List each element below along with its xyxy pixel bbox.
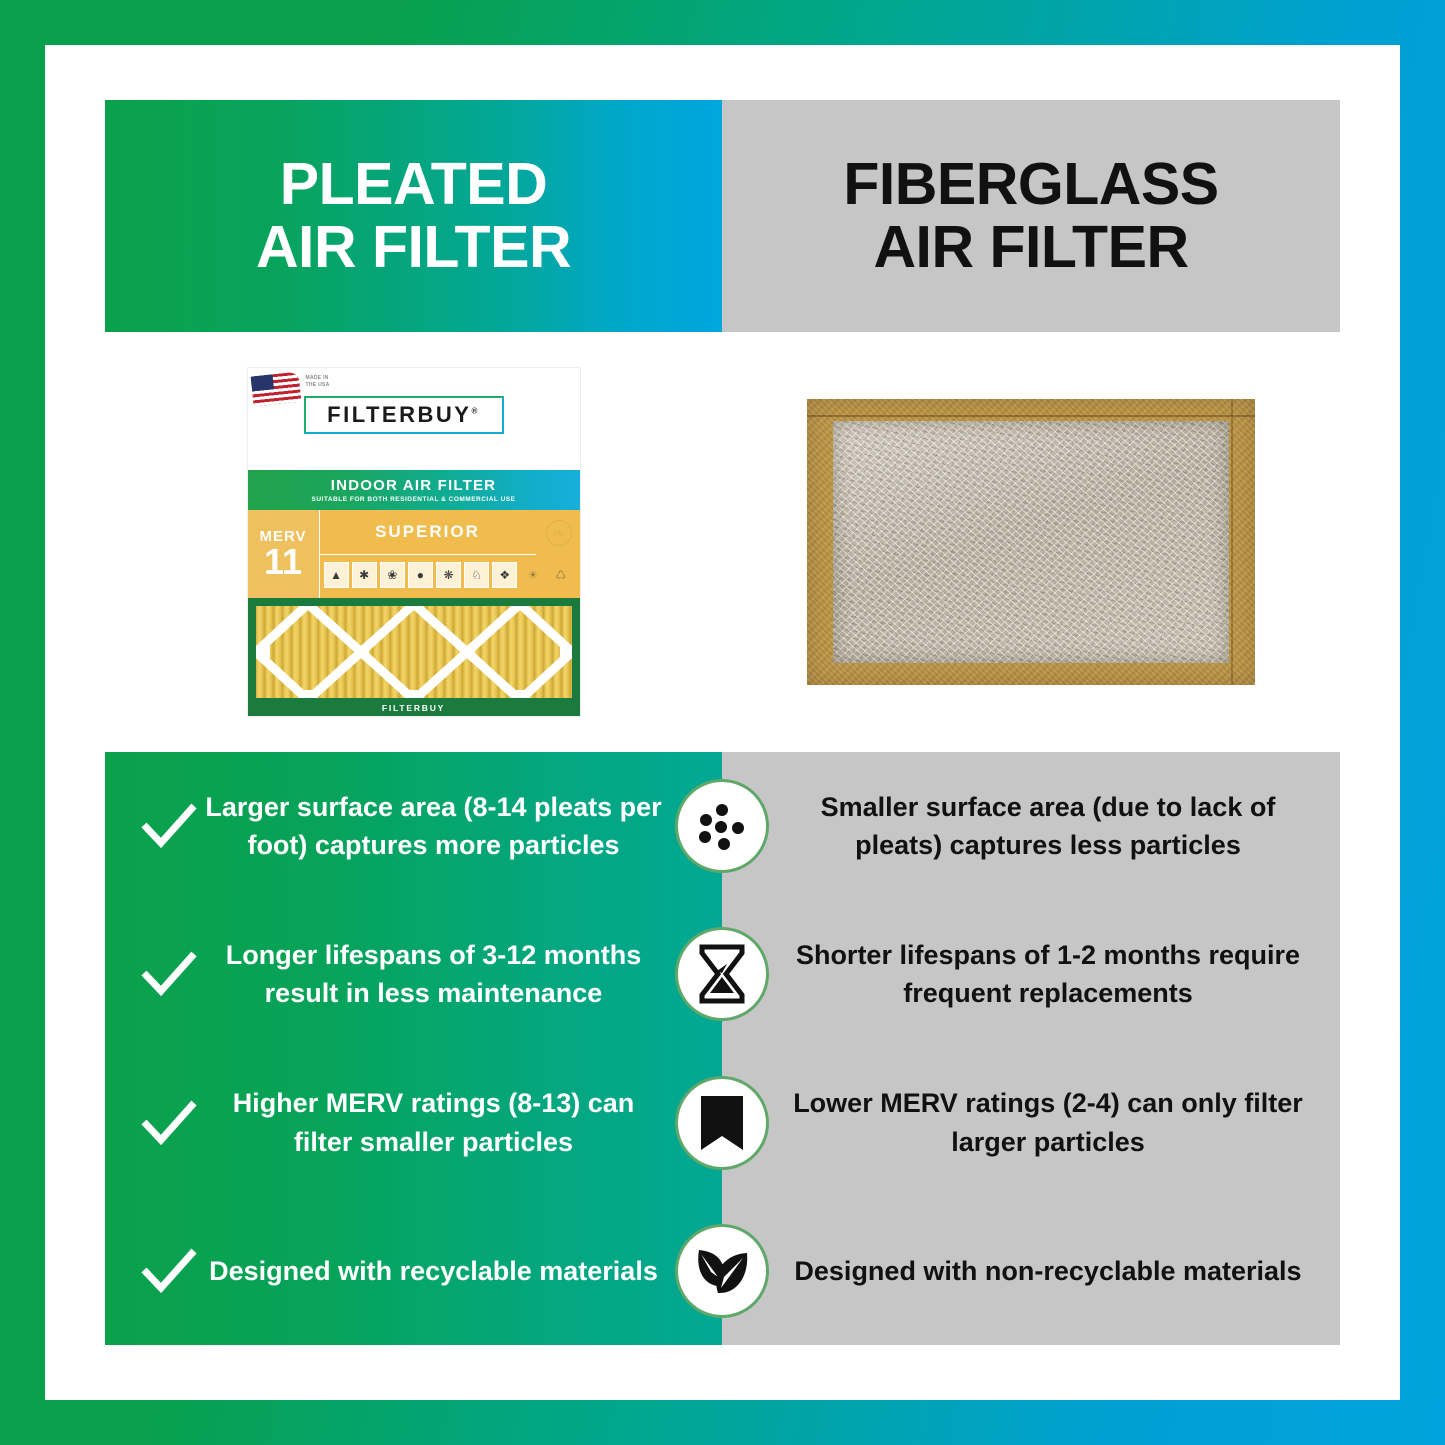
virus-icon: ♺	[548, 562, 573, 588]
frame-top-seam	[807, 415, 1255, 417]
row-2-right-cell: Shorter lifespans of 1-2 months require …	[722, 900, 1340, 1048]
header-fiberglass-line2: AIR FILTER	[843, 216, 1218, 279]
row-4-left-text: Designed with recyclable materials	[203, 1252, 664, 1290]
box-indoor-air-filter-band: INDOOR AIR FILTER SUITABLE FOR BOTH RESI…	[248, 470, 580, 510]
fiberglass-mesh	[833, 421, 1229, 663]
product-cell-pleated: MADE IN THE USA FILTERBUY® INDOOR AIR FI…	[105, 332, 722, 752]
frame-right-seam	[1231, 399, 1233, 685]
row-3-right-cell: Lower MERV ratings (2-4) can only filter…	[722, 1049, 1340, 1197]
checkmark-icon	[135, 1100, 203, 1146]
odor-icon: ☀	[520, 562, 545, 588]
header-pleated-line2: AIR FILTER	[256, 216, 571, 279]
checkmark-icon	[135, 803, 203, 849]
comparison-rows: Larger surface area (8-14 pleats per foo…	[105, 752, 1340, 1345]
pleated-media	[256, 606, 572, 698]
row-4-right-cell: Designed with non-recyclable materials	[722, 1197, 1340, 1345]
row-4-left-cell: Designed with recyclable materials	[105, 1197, 722, 1345]
header-band: PLEATED AIR FILTER FIBERGLASS AIR FILTER	[105, 100, 1340, 332]
usa-flag-icon	[250, 372, 301, 407]
row-3-left-text: Higher MERV ratings (8-13) can filter sm…	[203, 1084, 664, 1161]
bookmark-icon	[675, 1076, 769, 1170]
row-2-right-text: Shorter lifespans of 1-2 months require …	[790, 936, 1306, 1013]
infographic-page: PLEATED AIR FILTER FIBERGLASS AIR FILTER	[0, 0, 1445, 1445]
leaf-icon	[675, 1224, 769, 1318]
box-top-white-area: MADE IN THE USA FILTERBUY®	[248, 368, 580, 470]
row-1-left-cell: Larger surface area (8-14 pleats per foo…	[105, 752, 722, 900]
insect-icon: ✱	[352, 562, 377, 588]
table-row: Higher MERV ratings (8-13) can filter sm…	[105, 1049, 1340, 1197]
particles-icon	[675, 779, 769, 873]
registered-mark: ®	[471, 407, 479, 416]
pollen-icon: ❋	[436, 562, 461, 588]
row-3-right-text: Lower MERV ratings (2-4) can only filter…	[790, 1084, 1306, 1161]
product-cell-fiberglass	[722, 332, 1340, 752]
made-in-usa-text: MADE IN THE USA	[306, 375, 330, 388]
tier-label: SUPERIOR	[320, 510, 536, 555]
merv-value: 11	[264, 545, 302, 579]
white-canvas: PLEATED AIR FILTER FIBERGLASS AIR FILTER	[45, 45, 1400, 1400]
filterbuy-logo-text: FILTERBUY	[327, 402, 471, 427]
row-4-right-text: Designed with non-recyclable materials	[790, 1252, 1306, 1290]
diamond-support-grid-icon	[256, 606, 572, 698]
table-row: Designed with recyclable materials Desig…	[105, 1197, 1340, 1345]
header-fiberglass-title: FIBERGLASS AIR FILTER	[843, 153, 1218, 279]
row-2-left-cell: Longer lifespans of 3-12 months result i…	[105, 900, 722, 1048]
hourglass-icon	[675, 927, 769, 1021]
comparison-table: Larger surface area (8-14 pleats per foo…	[105, 752, 1340, 1345]
table-row: Larger surface area (8-14 pleats per foo…	[105, 752, 1340, 900]
filterbuy-logo: FILTERBUY®	[304, 396, 504, 434]
row-1-left-text: Larger surface area (8-14 pleats per foo…	[203, 788, 664, 865]
ul-certification-icon: UL	[546, 520, 572, 546]
product-image-row: MADE IN THE USA FILTERBUY® INDOOR AIR FI…	[105, 332, 1340, 752]
header-fiberglass: FIBERGLASS AIR FILTER	[722, 100, 1340, 332]
row-1-right-text: Smaller surface area (due to lack of ple…	[790, 788, 1306, 865]
filterbuy-product-box: MADE IN THE USA FILTERBUY® INDOOR AIR FI…	[248, 368, 580, 716]
box-feature-icon-strip: ▲ ✱ ❀ ● ❋ ♘ ❖ ☀ ♺	[324, 556, 574, 594]
header-pleated-title: PLEATED AIR FILTER	[256, 153, 571, 279]
row-1-right-cell: Smaller surface area (due to lack of ple…	[722, 752, 1340, 900]
merv-badge: MERV 11	[248, 510, 320, 598]
table-row: Longer lifespans of 3-12 months result i…	[105, 900, 1340, 1048]
checkmark-icon	[135, 1248, 203, 1294]
bacteria-icon: ❀	[380, 562, 405, 588]
header-fiberglass-line1: FIBERGLASS	[843, 151, 1218, 217]
smoke-icon: ❖	[492, 562, 517, 588]
dust-icon: ▲	[324, 562, 349, 588]
checkmark-icon	[135, 951, 203, 997]
mold-icon: ●	[408, 562, 433, 588]
fiberglass-product-photo	[807, 399, 1255, 685]
box-gold-section: MERV 11 SUPERIOR UL ▲ ✱ ❀ ● ❋ ♘ ❖	[248, 510, 580, 598]
header-pleated-line1: PLEATED	[280, 151, 547, 217]
box-pleated-media-window: FILTERBUY	[248, 598, 580, 716]
row-3-left-cell: Higher MERV ratings (8-13) can filter sm…	[105, 1049, 722, 1197]
box-footer-brand: FILTERBUY	[248, 703, 580, 713]
row-2-left-text: Longer lifespans of 3-12 months result i…	[203, 936, 664, 1013]
box-band-title: INDOOR AIR FILTER	[331, 477, 496, 494]
box-band-subtitle: SUITABLE FOR BOTH RESIDENTIAL & COMMERCI…	[312, 496, 516, 503]
pet-dander-icon: ♘	[464, 562, 489, 588]
header-pleated: PLEATED AIR FILTER	[105, 100, 722, 332]
